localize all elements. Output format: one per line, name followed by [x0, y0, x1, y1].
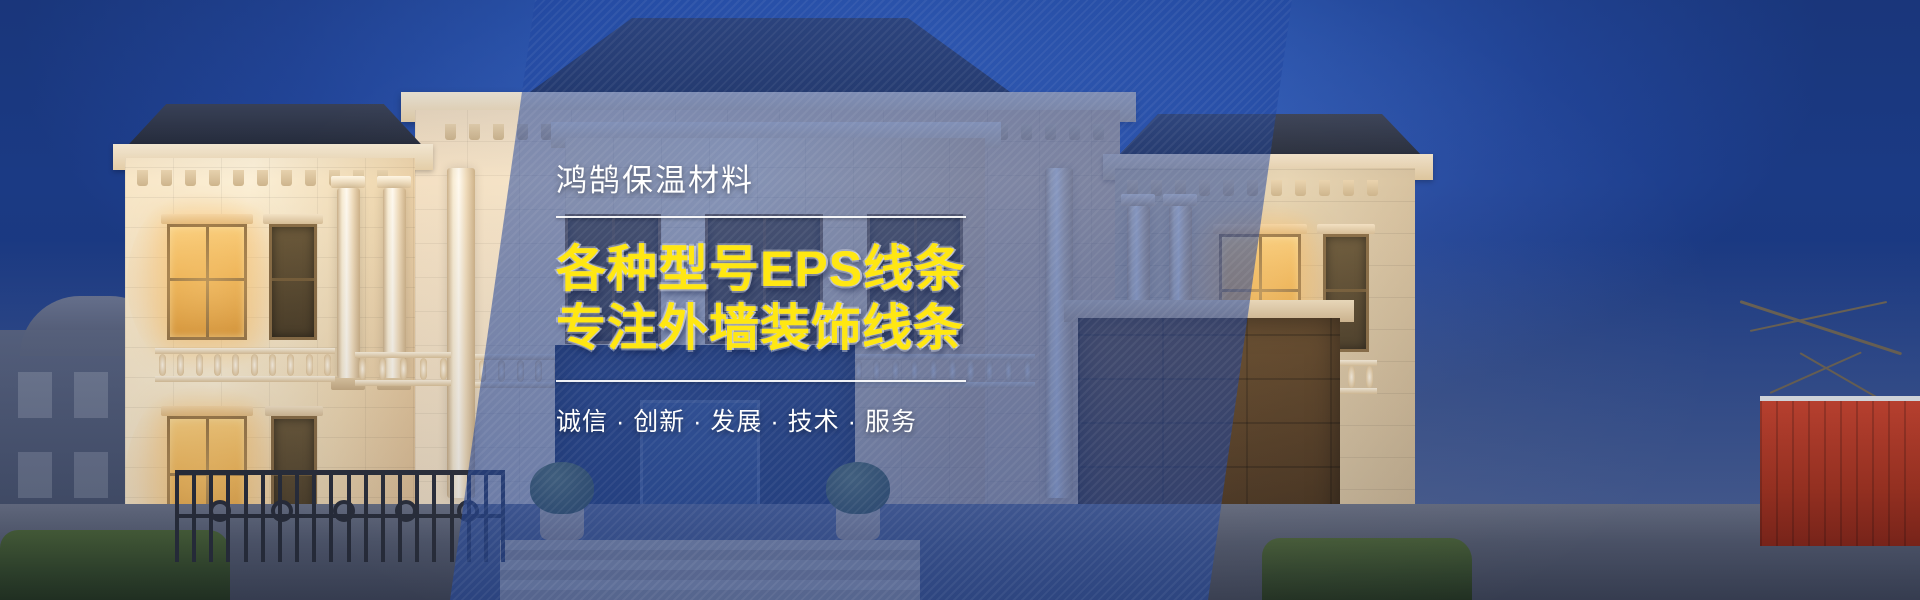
iron-fence [175, 470, 505, 562]
column [337, 188, 360, 378]
balustrade [155, 348, 335, 382]
distant-window [18, 452, 52, 498]
hedge [1262, 538, 1472, 600]
hero-banner: 鸿鹄保温材料 各种型号EPS线条 专注外墙装饰线条 诚信 · 创新 · 发展 ·… [0, 0, 1920, 600]
brand-name: 鸿鹄保温材料 [556, 162, 1026, 199]
left-wing-roof [105, 104, 445, 148]
headline-line-2: 专注外墙装饰线条 [556, 299, 1026, 358]
column-capital [331, 176, 365, 188]
window-hood [263, 214, 323, 224]
fence-ring [209, 500, 231, 522]
fence-ring [395, 500, 417, 522]
column-capital [377, 176, 411, 188]
tagline: 诚信 · 创新 · 发展 · 技术 · 服务 [556, 402, 1026, 438]
column [383, 188, 406, 378]
divider-top [556, 216, 966, 218]
divider-bottom [556, 380, 966, 382]
window-lit [167, 224, 247, 340]
red-container [1760, 396, 1920, 546]
window-hood [1317, 224, 1375, 234]
distant-window [18, 372, 52, 418]
window [269, 224, 317, 340]
balustrade [355, 352, 451, 386]
fence-ring [271, 500, 293, 522]
window-hood [161, 406, 253, 416]
banner-content: 鸿鹄保温材料 各种型号EPS线条 专注外墙装饰线条 诚信 · 创新 · 发展 ·… [556, 0, 1026, 600]
window-hood [161, 214, 253, 224]
headline: 各种型号EPS线条 专注外墙装饰线条 [556, 240, 1026, 358]
column [447, 168, 475, 498]
fence-ring [333, 500, 355, 522]
window-hood [265, 406, 323, 416]
headline-line-1: 各种型号EPS线条 [556, 240, 1026, 299]
